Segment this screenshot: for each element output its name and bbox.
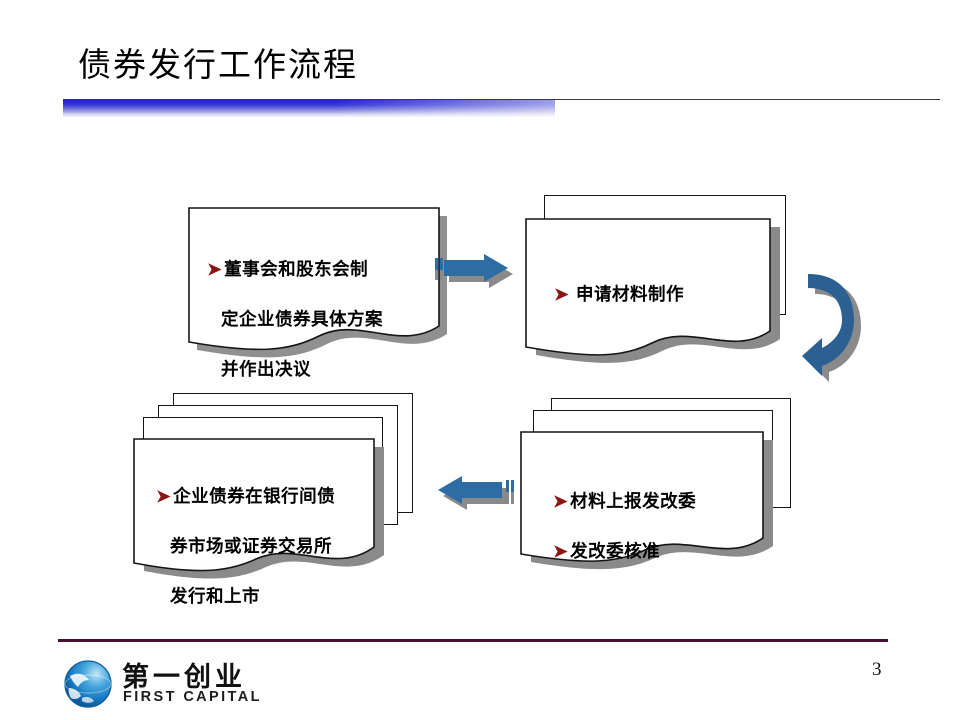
bullet-icon: ➤ — [553, 541, 568, 561]
flow-step-issue-and-list[interactable]: ➤企业债券在银行间债 券市场或证券交易所 发行和上市 — [128, 393, 403, 578]
arrow-curved-down-icon — [792, 266, 862, 381]
globe-icon — [62, 658, 114, 710]
footer-rule — [58, 639, 888, 642]
company-logo: 第一创业 FIRST CAPITAL — [62, 655, 262, 713]
connector-right-arrow — [438, 246, 518, 296]
title-gradient-bar — [63, 100, 555, 117]
arrow-left-icon — [430, 470, 510, 522]
bullet-icon: ➤ — [207, 259, 222, 279]
connector-curved-arrow — [792, 266, 862, 381]
page-number: 3 — [872, 659, 882, 681]
flow-step-ndrc-approval[interactable]: ➤材料上报发改委 ➤发改委核准 — [515, 398, 780, 563]
logo-english-name: FIRST CAPITAL — [123, 689, 262, 705]
connector-left-arrow — [430, 470, 510, 522]
bullet-icon: ➤ — [554, 284, 569, 304]
flow-step-prepare-materials[interactable]: ➤ 申请材料制作 — [520, 195, 770, 355]
bullet-icon: ➤ — [553, 491, 568, 511]
flow-step-text: ➤材料上报发改委 ➤发改委核准 — [553, 464, 696, 589]
flow-step-text: ➤ 申请材料制作 — [554, 257, 684, 332]
flow-step-board-resolution[interactable]: ➤董事会和股东会制 定企业债券具体方案 并作出决议 — [183, 196, 433, 346]
flow-step-text: ➤企业债券在银行间债 券市场或证券交易所 发行和上市 — [156, 459, 335, 634]
arrow-right-icon — [438, 246, 518, 296]
flow-step-text: ➤董事会和股东会制 定企业债券具体方案 并作出决议 — [207, 232, 383, 407]
bullet-icon: ➤ — [156, 486, 171, 506]
slide-canvas: 债券发行工作流程 ➤董事会和股东会制 定企业债券具体方案 并作出决议 — [0, 0, 960, 720]
page-title: 债券发行工作流程 — [78, 38, 358, 86]
